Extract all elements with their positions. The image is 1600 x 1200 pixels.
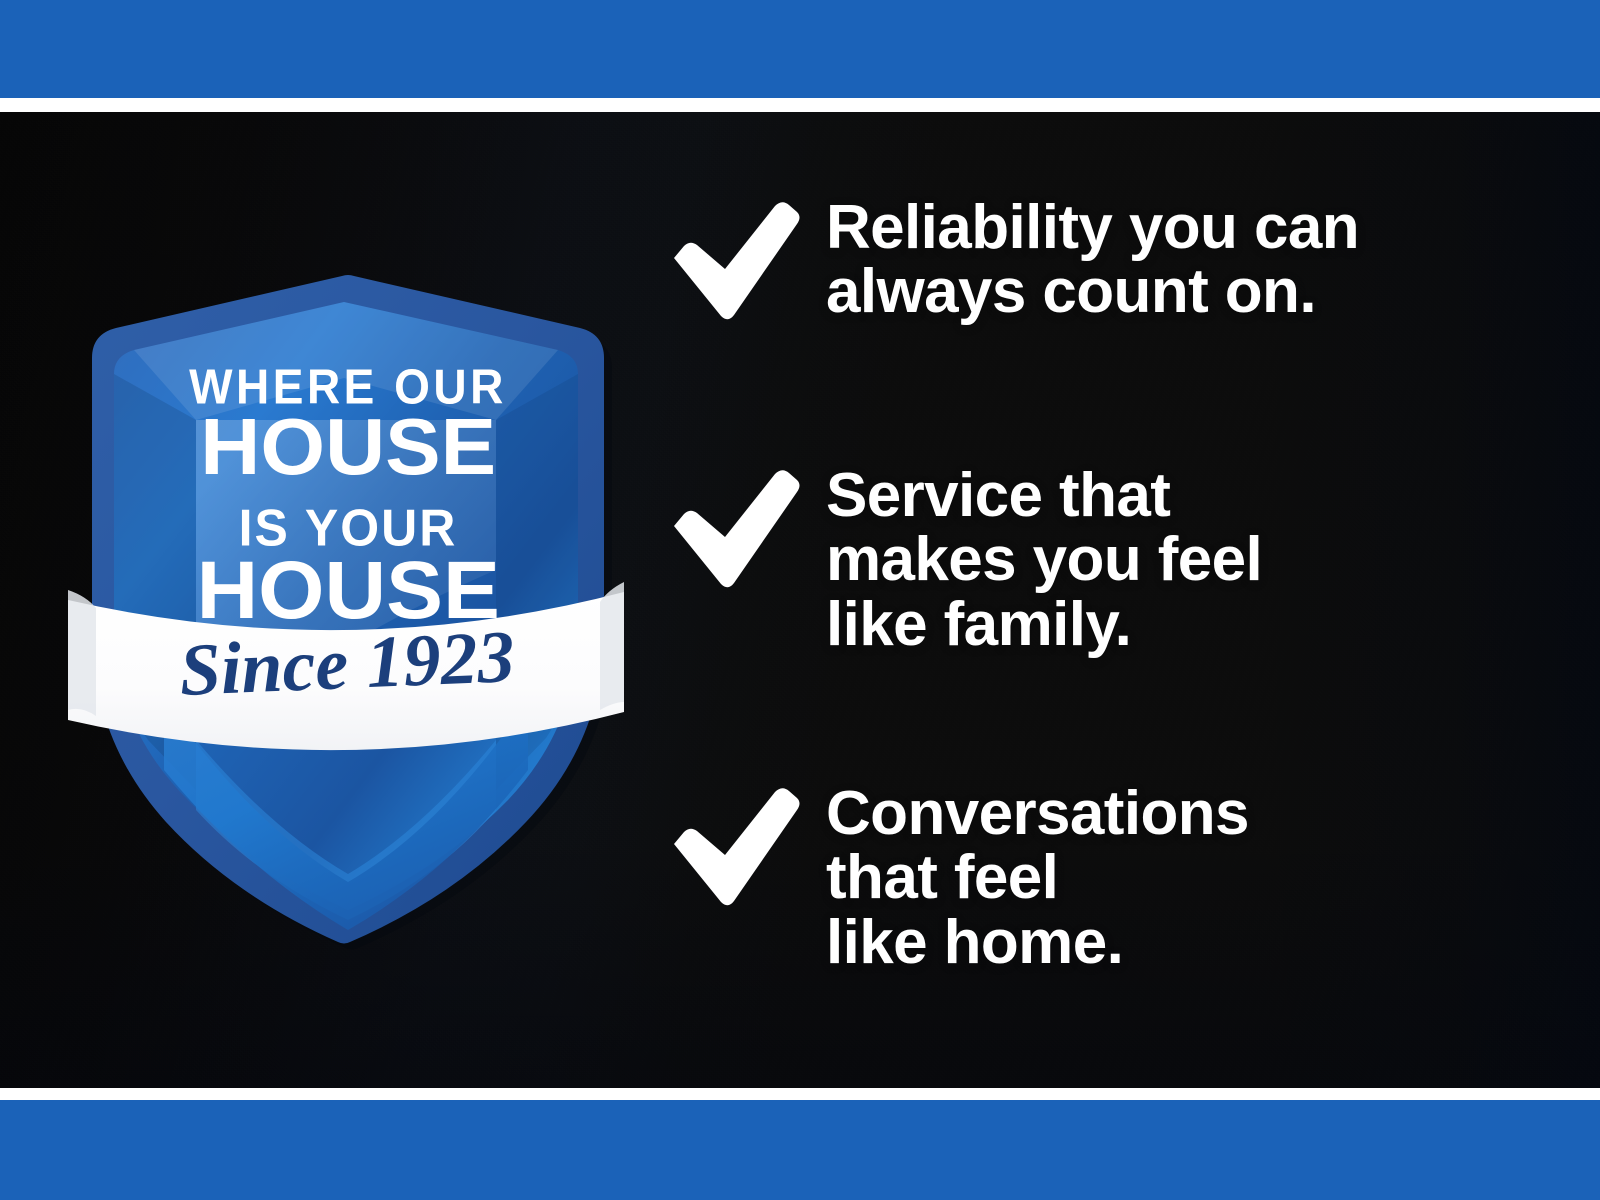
banner-fold-left bbox=[68, 590, 96, 716]
banner-fold-right bbox=[600, 582, 624, 710]
shield-badge: WHERE OUR HOUSE IS YOUR HOUSE Since 1923 bbox=[56, 270, 636, 950]
shield-line-1: HOUSE bbox=[200, 402, 496, 491]
promo-graphic: WHERE OUR HOUSE IS YOUR HOUSE Since 1923 bbox=[0, 0, 1600, 1200]
list-item: Service that makes you feel like family. bbox=[668, 464, 1262, 657]
top-brand-bar bbox=[0, 0, 1600, 98]
list-item: Conversations that feel like home. bbox=[668, 782, 1249, 975]
check-icon bbox=[668, 202, 800, 322]
list-item-label: Reliability you can always count on. bbox=[826, 196, 1359, 325]
list-item-label: Conversations that feel like home. bbox=[826, 782, 1249, 975]
banner-text: Since 1923 bbox=[178, 616, 516, 712]
benefit-list: Reliability you can always count on. Ser… bbox=[668, 196, 1548, 1036]
check-icon bbox=[668, 470, 800, 590]
check-icon bbox=[668, 788, 800, 908]
bottom-brand-bar bbox=[0, 1100, 1600, 1200]
list-item-label: Service that makes you feel like family. bbox=[826, 464, 1262, 657]
list-item: Reliability you can always count on. bbox=[668, 196, 1359, 325]
